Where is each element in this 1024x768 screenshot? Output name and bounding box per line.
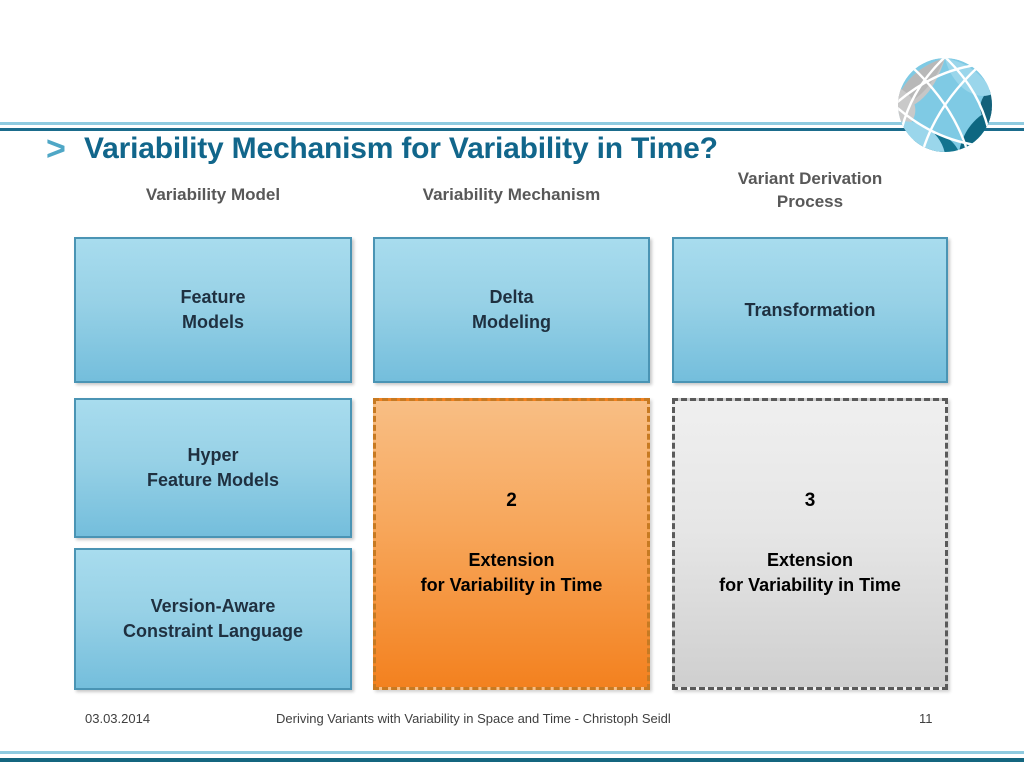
footer-divider-dark <box>0 758 1024 762</box>
column-header-variability-model: Variability Model <box>74 184 352 207</box>
box-label-line-1: Extension <box>767 548 853 573</box>
box-transformation[interactable]: Transformation <box>672 237 948 383</box>
slide-canvas: > Variability Mechanism for Variability … <box>0 0 1024 768</box>
footer-divider-light <box>0 751 1024 754</box>
box-hyper-feature-models[interactable]: Hyper Feature Models <box>74 398 352 538</box>
box-step-number: 3 <box>805 491 816 510</box>
footer-date: 03.03.2014 <box>85 711 150 726</box>
column-header-line-1: Variant Derivation <box>738 169 883 188</box>
footer-subtitle: Deriving Variants with Variability in Sp… <box>276 711 671 726</box>
column-header-line-2: Process <box>777 192 843 211</box>
column-header-variability-mechanism: Variability Mechanism <box>373 184 650 207</box>
box-label-line-1: Transformation <box>744 298 875 323</box>
box-label-line-1: Version-Aware <box>151 594 276 619</box>
box-label-line-2: for Variability in Time <box>719 573 901 598</box>
footer-page-number: 11 <box>919 711 933 726</box>
page-title: Variability Mechanism for Variability in… <box>84 132 718 167</box>
box-label-line-2: Modeling <box>472 310 551 335</box>
box-label-line-2: Feature Models <box>147 468 279 493</box>
header-divider-light <box>0 122 1024 125</box>
header-divider-dark <box>0 128 1024 131</box>
box-extension-for-variability-in-time-2[interactable]: 2 Extension for Variability in Time <box>373 398 650 690</box>
slide-title-bar: > Variability Mechanism for Variability … <box>0 62 1024 120</box>
box-version-aware-constraint-language[interactable]: Version-Aware Constraint Language <box>74 548 352 690</box>
box-label-line-1: Delta <box>489 285 533 310</box>
chevron-right-icon: > <box>46 132 66 166</box>
box-label-line-1: Extension <box>468 548 554 573</box>
box-label-line-2: Constraint Language <box>123 619 303 644</box>
box-label-line-2: for Variability in Time <box>421 573 603 598</box>
box-label-line-2: Models <box>182 310 244 335</box>
box-extension-for-variability-in-time-3[interactable]: 3 Extension for Variability in Time <box>672 398 948 690</box>
column-header-variant-derivation-process: Variant Derivation Process <box>672 168 948 214</box>
box-delta-modeling[interactable]: Delta Modeling <box>373 237 650 383</box>
interlocking-sphere-logo-icon <box>893 56 997 154</box>
box-feature-models[interactable]: Feature Models <box>74 237 352 383</box>
box-step-number: 2 <box>506 491 517 510</box>
box-label-line-1: Feature <box>180 285 245 310</box>
box-label-line-1: Hyper <box>187 443 238 468</box>
